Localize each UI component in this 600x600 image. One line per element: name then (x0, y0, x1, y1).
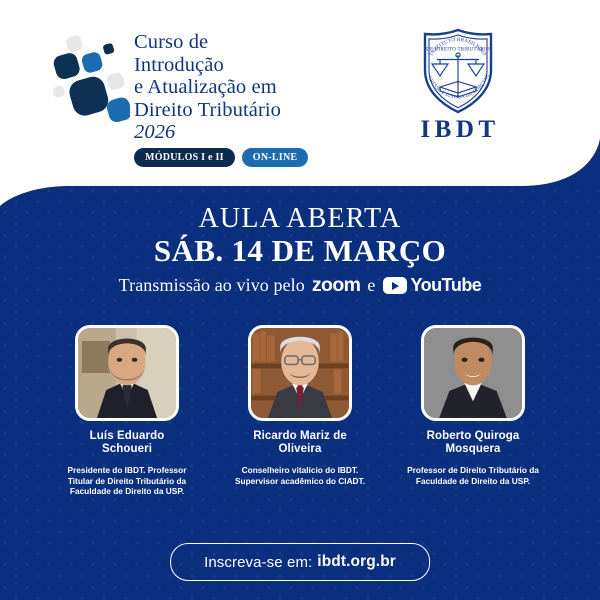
speaker-name-line-1: Ricardo Mariz de (253, 430, 347, 442)
hero-line-1: AULA ABERTA (0, 203, 600, 234)
speaker-name-line-1: Luís Eduardo (90, 430, 165, 442)
zoom-logo: zoom (312, 274, 361, 297)
speaker-portrait-mariz (248, 325, 352, 421)
svg-text:DE DIREITO TRIBUTÁRIO: DE DIREITO TRIBUTÁRIO (426, 47, 490, 53)
broadcast-line: Transmissão ao vivo pelo zoom e YouTube (0, 274, 600, 297)
hero-line-2: SÁB. 14 DE MARÇO (0, 234, 600, 268)
cta-url-label: ibdt.org.br (317, 553, 396, 571)
poster-header: Curso de Introdução e Atualização em Dir… (0, 0, 600, 186)
speaker-portrait-schoueri (75, 325, 179, 421)
course-year: 2026 (134, 121, 364, 144)
speaker-name-line-2: Mosquera (445, 443, 500, 455)
speaker-name-line-2: Oliveira (279, 443, 322, 455)
speaker-role: Conselheiro vitalício do IBDT. Superviso… (223, 465, 378, 486)
course-title-line-4: Direito Tributário (134, 99, 281, 121)
speaker-name: Luís Eduardo Schoueri (50, 430, 205, 456)
broadcast-conjunction: e (367, 275, 375, 296)
hero-headline: AULA ABERTA SÁB. 14 DE MARÇO (0, 203, 600, 268)
ibdt-logo: INSTITUTO BRASILEIRO PROGRESSO E JUSTIÇA… (404, 28, 512, 144)
broadcast-prefix: Transmissão ao vivo pelo (119, 275, 305, 296)
ibdt-wordmark: IBDT (404, 116, 512, 144)
course-title-line-1: Curso de (134, 31, 208, 53)
register-cta-button[interactable]: Inscreva-se em: ibdt.org.br (170, 543, 430, 581)
speaker-card: Luís Eduardo Schoueri Presidente do IBDT… (50, 325, 205, 497)
poster-canvas: Curso de Introdução e Atualização em Dir… (0, 0, 600, 600)
squares-logo-icon (52, 32, 130, 132)
badge-online[interactable]: ON-LINE (242, 148, 309, 167)
course-title: Curso de Introdução e Atualização em Dir… (134, 31, 364, 144)
ibdt-shield-icon: INSTITUTO BRASILEIRO PROGRESSO E JUSTIÇA… (419, 28, 497, 114)
speaker-portrait-quiroga (421, 325, 525, 421)
course-title-line-3: e Atualização em (134, 76, 277, 98)
speaker-name: Roberto Quiroga Mosquera (396, 430, 551, 456)
speaker-name-line-2: Schoueri (102, 443, 152, 455)
badge-modulos[interactable]: MÓDULOS I e II (134, 148, 235, 167)
course-badges: MÓDULOS I e II ON-LINE (134, 148, 308, 167)
youtube-wordmark: YouTube (411, 275, 482, 296)
youtube-play-icon (383, 277, 407, 294)
course-title-line-2: Introdução (134, 54, 224, 76)
speaker-name: Ricardo Mariz de Oliveira (223, 430, 378, 456)
speaker-role: Professor de Direito Tributário da Facul… (396, 465, 551, 486)
speaker-role: Presidente do IBDT. Professor Titular de… (50, 465, 205, 497)
speakers-row: Luís Eduardo Schoueri Presidente do IBDT… (0, 325, 600, 497)
youtube-logo: YouTube (383, 275, 482, 296)
speaker-name-line-1: Roberto Quiroga (427, 430, 520, 442)
speaker-card: Roberto Quiroga Mosquera Professor de Di… (396, 325, 551, 497)
speaker-card: Ricardo Mariz de Oliveira Conselheiro vi… (223, 325, 378, 497)
cta-lead-label: Inscreva-se em: (204, 554, 312, 571)
